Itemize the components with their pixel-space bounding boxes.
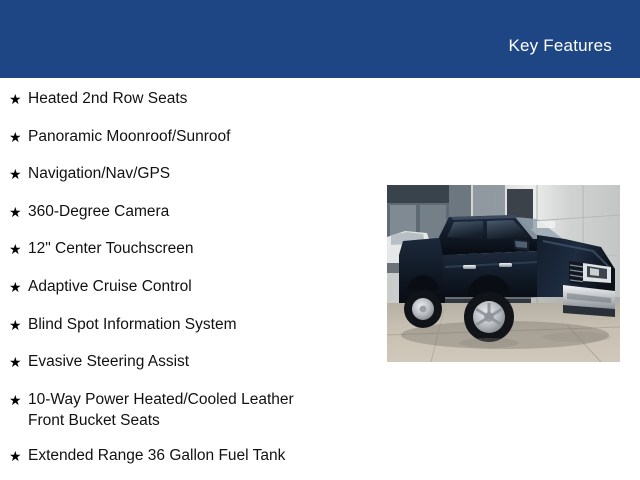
list-item: ★ 10-Way Power Heated/Cooled Leather Fro… bbox=[0, 389, 380, 445]
list-item: ★ Blind Spot Information System bbox=[0, 314, 380, 352]
list-item: ★ 360-Degree Camera bbox=[0, 201, 380, 239]
feature-label: 360-Degree Camera bbox=[28, 201, 380, 222]
list-item: ★ Panoramic Moonroof/Sunroof bbox=[0, 126, 380, 164]
list-item: ★ Navigation/Nav/GPS bbox=[0, 163, 380, 201]
feature-label: Extended Range 36 Gallon Fuel Tank bbox=[28, 445, 380, 466]
star-icon: ★ bbox=[9, 276, 28, 298]
star-icon: ★ bbox=[9, 314, 28, 336]
feature-label: Blind Spot Information System bbox=[28, 314, 380, 335]
feature-label: Heated 2nd Row Seats bbox=[28, 88, 380, 109]
feature-label: Adaptive Cruise Control bbox=[28, 276, 380, 297]
star-icon: ★ bbox=[9, 126, 28, 148]
feature-label: 10-Way Power Heated/Cooled Leather Front… bbox=[28, 389, 380, 431]
star-icon: ★ bbox=[9, 88, 28, 110]
feature-label: Evasive Steering Assist bbox=[28, 351, 380, 372]
star-icon: ★ bbox=[9, 201, 28, 223]
list-item: ★ Adaptive Cruise Control bbox=[0, 276, 380, 314]
list-item: ★ 12" Center Touchscreen bbox=[0, 238, 380, 276]
vehicle-photo bbox=[387, 185, 620, 362]
star-icon: ★ bbox=[9, 163, 28, 185]
vehicle-photo-image bbox=[387, 185, 620, 362]
list-item: ★ Evasive Steering Assist bbox=[0, 351, 380, 389]
star-icon: ★ bbox=[9, 351, 28, 373]
feature-label: 12" Center Touchscreen bbox=[28, 238, 380, 259]
key-features-list: ★ Heated 2nd Row Seats ★ Panoramic Moonr… bbox=[0, 88, 380, 480]
list-item: ★ Heated 2nd Row Seats bbox=[0, 88, 380, 126]
page-header: Key Features bbox=[0, 0, 640, 78]
list-item: ★ Extended Range 36 Gallon Fuel Tank bbox=[0, 445, 380, 480]
star-icon: ★ bbox=[9, 389, 28, 411]
star-icon: ★ bbox=[9, 238, 28, 260]
feature-label: Navigation/Nav/GPS bbox=[28, 163, 380, 184]
page-title: Key Features bbox=[508, 22, 640, 56]
feature-label: Panoramic Moonroof/Sunroof bbox=[28, 126, 380, 147]
star-icon: ★ bbox=[9, 445, 28, 467]
